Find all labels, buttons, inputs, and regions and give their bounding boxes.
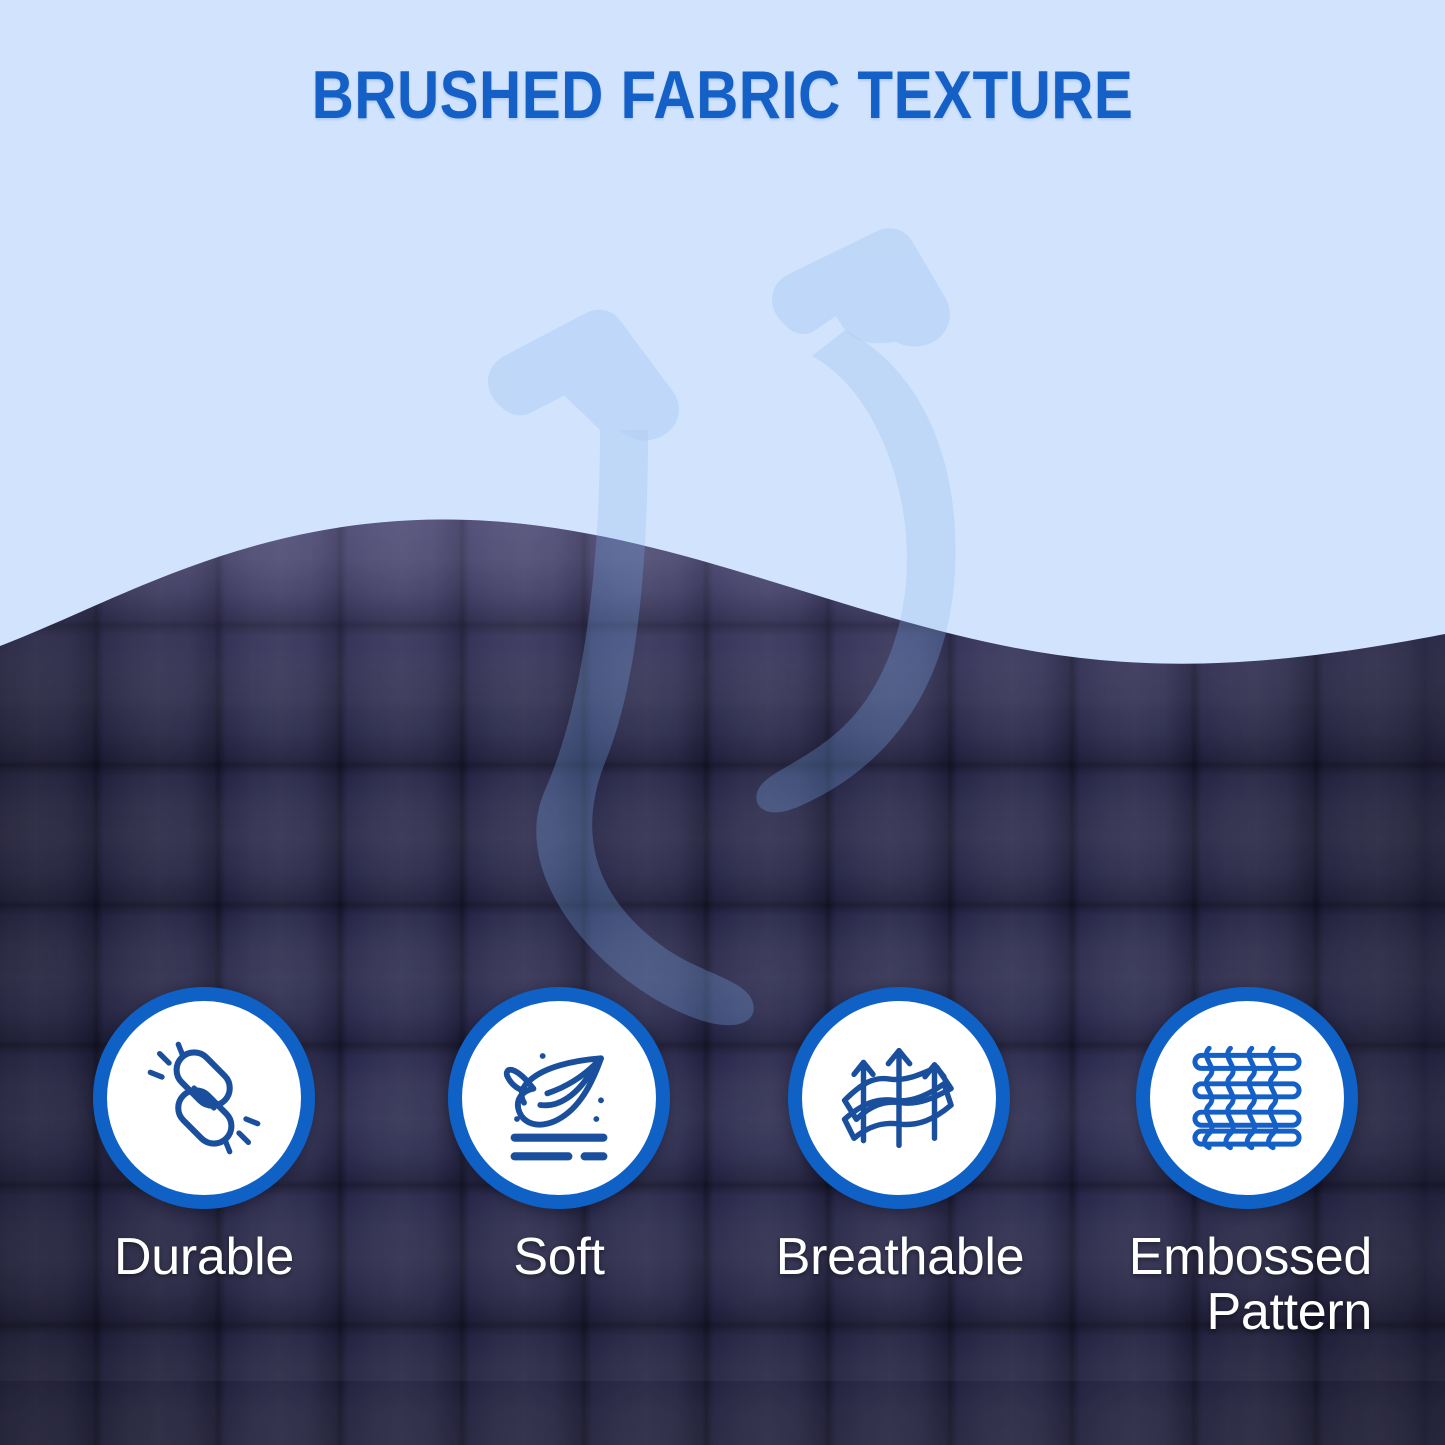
feature-label-embossed-pattern: Embossed Pattern [1052,1230,1372,1340]
feature-badge-embossed-pattern[interactable] [1136,987,1358,1209]
breathable-fabric-arrows-icon [828,1027,970,1169]
woven-weave-pattern-icon [1176,1027,1318,1169]
feature-badge-breathable[interactable] [788,987,1010,1209]
feature-label-breathable: Breathable [740,1230,1060,1285]
chain-link-icon [134,1028,274,1168]
feather-softness-icon [489,1028,629,1168]
product-feature-graphic: BRUSHED FABRIC TEXTURE [0,0,1445,1445]
feature-badge-soft[interactable] [448,987,670,1209]
feature-label-soft: Soft [429,1230,689,1285]
feature-label-durable: Durable [44,1230,364,1285]
feature-badge-durable[interactable] [93,987,315,1209]
